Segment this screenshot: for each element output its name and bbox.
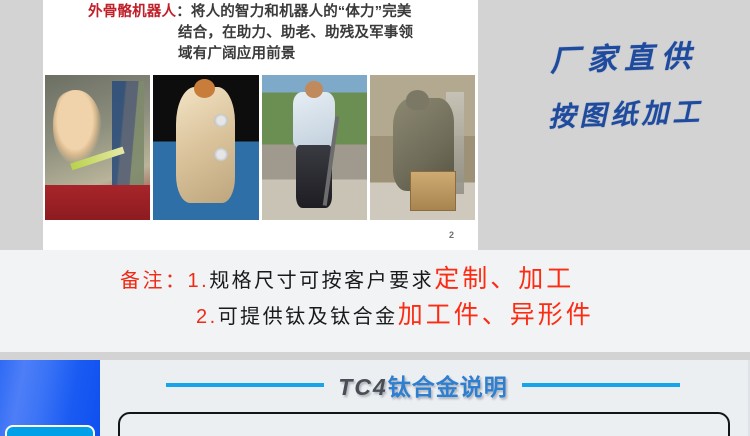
photo-decor — [305, 81, 323, 98]
note-2-emphasis: 加工件、异形件 — [398, 301, 594, 329]
note-line-2: 2.可提供钛及钛合金加工件、异形件 — [196, 298, 594, 334]
photo-decor — [293, 92, 335, 147]
tc4-title-code: TC4 — [338, 374, 387, 400]
notes-label: 备注： — [120, 270, 188, 292]
photo-military-exoskeleton — [370, 75, 475, 220]
tc4-body: TC4钛合金说明 — [100, 360, 750, 436]
note-2-number: 2. — [196, 306, 218, 328]
notes-section: 备注：1.规格尺寸可按客户要求定制、加工 2.可提供钛及钛合金加工件、异形件 — [0, 250, 750, 355]
tc4-section: TC4钛合金说明 — [0, 360, 750, 436]
tc4-title-row: TC4钛合金说明 — [100, 368, 746, 402]
photo-decor — [410, 171, 456, 212]
note-line-1: 备注：1.规格尺寸可按客户要求定制、加工 — [120, 262, 574, 298]
presentation-slide: 外骨骼机器人：将人的智力和机器人的“体力”完美 结合，在助力、助老、助残及军事领… — [43, 0, 478, 250]
photo-child-exoskeleton — [45, 75, 150, 220]
photo-decor — [176, 87, 235, 203]
slide-heading-line1: ：将人的智力和机器人的“体力”完美 — [176, 4, 411, 20]
slide-heading-keyword: 外骨骼机器人 — [88, 4, 176, 20]
handwritten-slogan: 厂家直供 按图纸加工 — [498, 27, 750, 148]
slide-page-number: 2 — [449, 230, 454, 240]
tc4-rule-right — [522, 383, 680, 387]
section-divider — [0, 352, 750, 360]
note-1-emphasis: 定制、加工 — [434, 265, 574, 293]
photo-walking-exoskeleton — [262, 75, 367, 220]
tc4-content-panel — [118, 412, 730, 436]
note-1-number: 1. — [188, 270, 210, 292]
photo-decor — [214, 148, 228, 161]
tc4-title: TC4钛合金说明 — [338, 368, 507, 402]
left-blue-panel — [0, 360, 100, 436]
note-2-text: 可提供钛及钛合金 — [218, 306, 398, 328]
photo-strip — [45, 75, 475, 220]
handwritten-slogan-line2: 按图纸加工 — [500, 83, 750, 148]
photo-decor — [406, 90, 429, 110]
slide-heading: 外骨骼机器人：将人的智力和机器人的“体力”完美 结合，在助力、助老、助残及军事领… — [63, 2, 463, 65]
slide-heading-line2: 结合，在助力、助老、助残及军事领 — [63, 23, 463, 44]
slide-heading-line3: 域有广阔应用前景 — [63, 44, 463, 65]
left-blue-tab[interactable] — [5, 425, 95, 436]
tc4-title-cn: 钛合金说明 — [388, 374, 508, 400]
tc4-rule-left — [166, 383, 324, 387]
note-1-text: 规格尺寸可按客户要求 — [209, 270, 434, 292]
photo-humanoid-exoskeleton — [153, 75, 258, 220]
handwritten-slogan-line1: 厂家直供 — [549, 39, 698, 79]
slide-section: 外骨骼机器人：将人的智力和机器人的“体力”完美 结合，在助力、助老、助残及军事领… — [0, 0, 750, 250]
